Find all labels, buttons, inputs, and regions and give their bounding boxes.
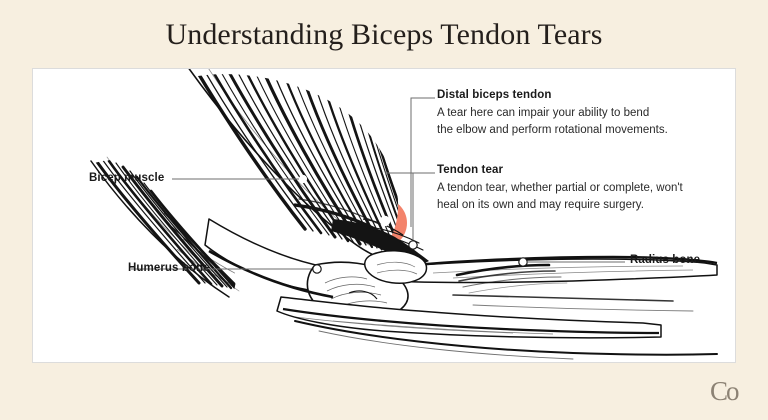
callout-distal-biceps-tendon: Distal biceps tendon A tear here can imp… <box>437 89 719 139</box>
callout-body: A tear here can impair your ability to b… <box>437 105 719 139</box>
callout-heading: Distal biceps tendon <box>437 89 719 101</box>
callout-body-line-2: the elbow and perform rotational movemen… <box>437 124 668 136</box>
callout-body-line-1: A tear here can impair your ability to b… <box>437 107 649 119</box>
ulna-bone-shape <box>277 297 661 338</box>
callout-heading: Tendon tear <box>437 164 719 176</box>
callout-body: A tendon tear, whether partial or comple… <box>437 180 719 214</box>
label-humerus-bone: Humerus bone <box>128 262 210 274</box>
label-bicep-muscle: Bicep muscle <box>89 172 164 184</box>
callout-body-line-1: A tendon tear, whether partial or comple… <box>437 182 683 194</box>
page-title: Understanding Biceps Tendon Tears <box>0 18 768 52</box>
callout-tendon-tear: Tendon tear A tendon tear, whether parti… <box>437 164 719 214</box>
infographic-root: Understanding Biceps Tendon Tears <box>0 0 768 420</box>
brand-logo: Co <box>710 378 738 405</box>
callout-body-line-2: heal on its own and may require surgery. <box>437 199 644 211</box>
label-radius-bone: Radius bone <box>630 254 700 266</box>
